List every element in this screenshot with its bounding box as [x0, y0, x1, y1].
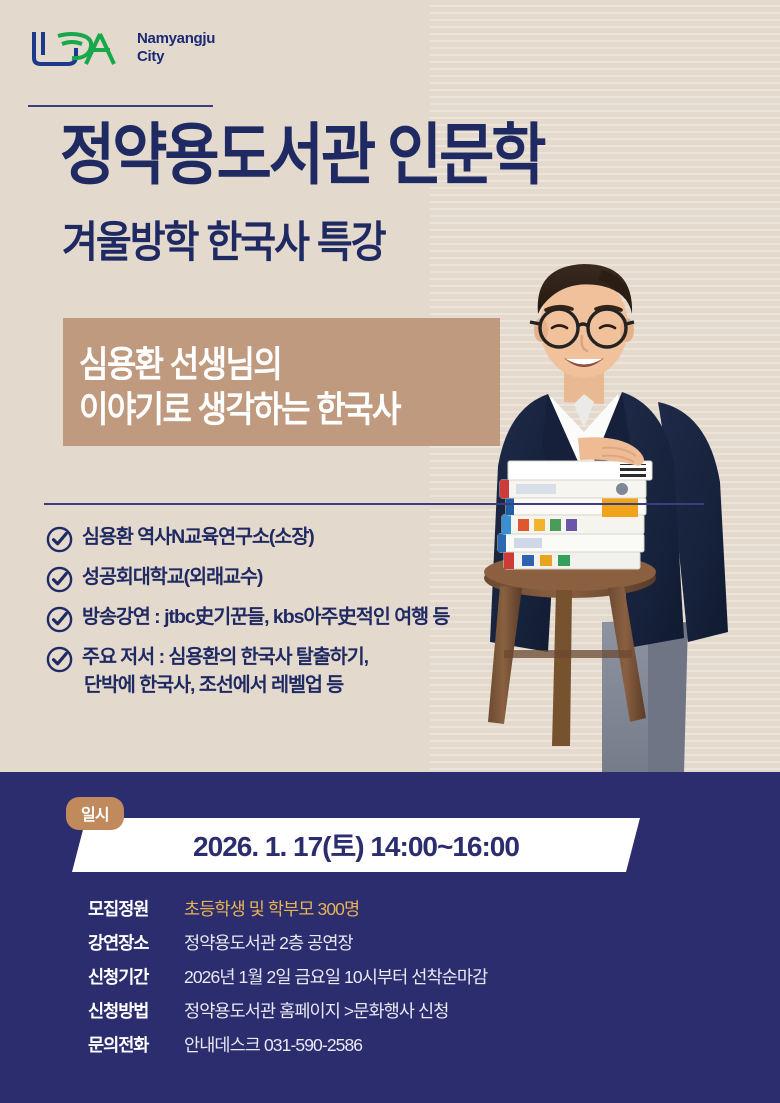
list-item-label: 방송강연 : jtbc史기꾼들, kbs아주史적인 여행 등: [82, 604, 449, 632]
schedule-datetime: 2026. 1. 17(토) 14:00~16:00: [72, 818, 640, 872]
table-row: 신청방법 정약용도서관 홈페이지 >문화행사 신청: [88, 998, 708, 1023]
highlight-line-2: 이야기로 생각하는 한국사: [79, 381, 400, 433]
detail-value: 초등학생 및 학부모 300명: [184, 896, 359, 921]
logo-wordmark: Namyangju City: [137, 30, 215, 65]
detail-value: 정약용도서관 2층 공연장: [184, 930, 353, 955]
schedule-badge: 일시: [66, 797, 124, 830]
detail-value: 2026년 1월 2일 금요일 10시부터 선착순마감: [184, 964, 487, 989]
logo-name-line2: City: [137, 48, 164, 65]
detail-value: 정약용도서관 홈페이지 >문화행사 신청: [184, 998, 448, 1023]
detail-label: 강연장소: [88, 930, 184, 955]
credentials-list: 심용환 역사N교육연구소(소장) 성공회대학교(외래교수) 방송강연 : jtb…: [46, 524, 566, 710]
table-row: 신청기간 2026년 1월 2일 금요일 10시부터 선착순마감: [88, 964, 708, 989]
logo-name-line1: Namyangju: [137, 30, 215, 47]
table-row: 문의전화 안내데스크 031-590-2586: [88, 1032, 708, 1057]
list-item-label-line1: 주요 저서 : 심용환의 한국사 탈출하기,: [82, 646, 368, 668]
logo-underline: [28, 105, 213, 107]
namyangju-city-logo: Namyangju City: [28, 26, 215, 70]
table-row: 강연장소 정약용도서관 2층 공연장: [88, 930, 708, 955]
table-row: 모집정원 초등학생 및 학부모 300명: [88, 896, 708, 921]
check-circle-icon: [46, 606, 73, 633]
poster-root: Namyangju City 정약용도서관 인문학 겨울방학 한국사 특강 심용…: [0, 0, 780, 1103]
list-item: 주요 저서 : 심용환의 한국사 탈출하기, 단박에 한국사, 조선에서 레벨업…: [46, 644, 566, 699]
list-item-label: 성공회대학교(외래교수): [82, 564, 262, 592]
detail-value: 안내데스크 031-590-2586: [184, 1032, 362, 1057]
check-circle-icon: [46, 526, 73, 553]
list-item-label-line2: 단박에 한국사, 조선에서 레벨업 등: [82, 672, 368, 700]
section-divider: [44, 503, 704, 505]
detail-label: 모집정원: [88, 896, 184, 921]
list-item-label: 주요 저서 : 심용환의 한국사 탈출하기, 단박에 한국사, 조선에서 레벨업…: [82, 644, 368, 699]
check-circle-icon: [46, 566, 73, 593]
detail-label: 신청방법: [88, 998, 184, 1023]
list-item: 성공회대학교(외래교수): [46, 564, 566, 593]
detail-label: 신청기간: [88, 964, 184, 989]
list-item: 방송강연 : jtbc史기꾼들, kbs아주史적인 여행 등: [46, 604, 566, 633]
poster-title: 정약용도서관 인문학: [60, 122, 720, 189]
namyangju-city-logo-icon: [28, 26, 128, 70]
detail-label: 문의전화: [88, 1032, 184, 1057]
check-circle-icon: [46, 646, 73, 673]
list-item-label: 심용환 역사N교육연구소(소장): [82, 524, 314, 552]
details-table: 모집정원 초등학생 및 학부모 300명 강연장소 정약용도서관 2층 공연장 …: [88, 896, 708, 1066]
list-item: 심용환 역사N교육연구소(소장): [46, 524, 566, 553]
highlight-line-1: 심용환 선생님의: [79, 336, 281, 388]
